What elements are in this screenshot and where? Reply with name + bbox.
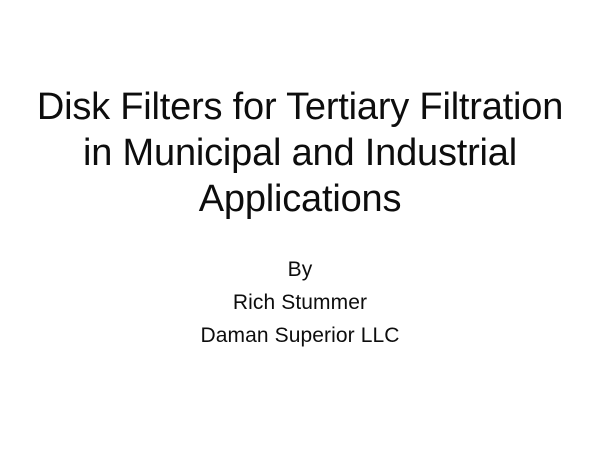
slide-subtitle: By Rich Stummer Daman Superior LLC [30,253,570,352]
byline-label: By [30,253,570,286]
title-line-2: in Municipal and Industrial [30,130,570,176]
organization-name: Daman Superior LLC [30,319,570,352]
author-name: Rich Stummer [30,286,570,319]
title-line-1: Disk Filters for Tertiary Filtration [30,84,570,130]
title-line-3: Applications [30,176,570,222]
title-slide: Disk Filters for Tertiary Filtration in … [0,0,600,449]
slide-title: Disk Filters for Tertiary Filtration in … [30,84,570,222]
